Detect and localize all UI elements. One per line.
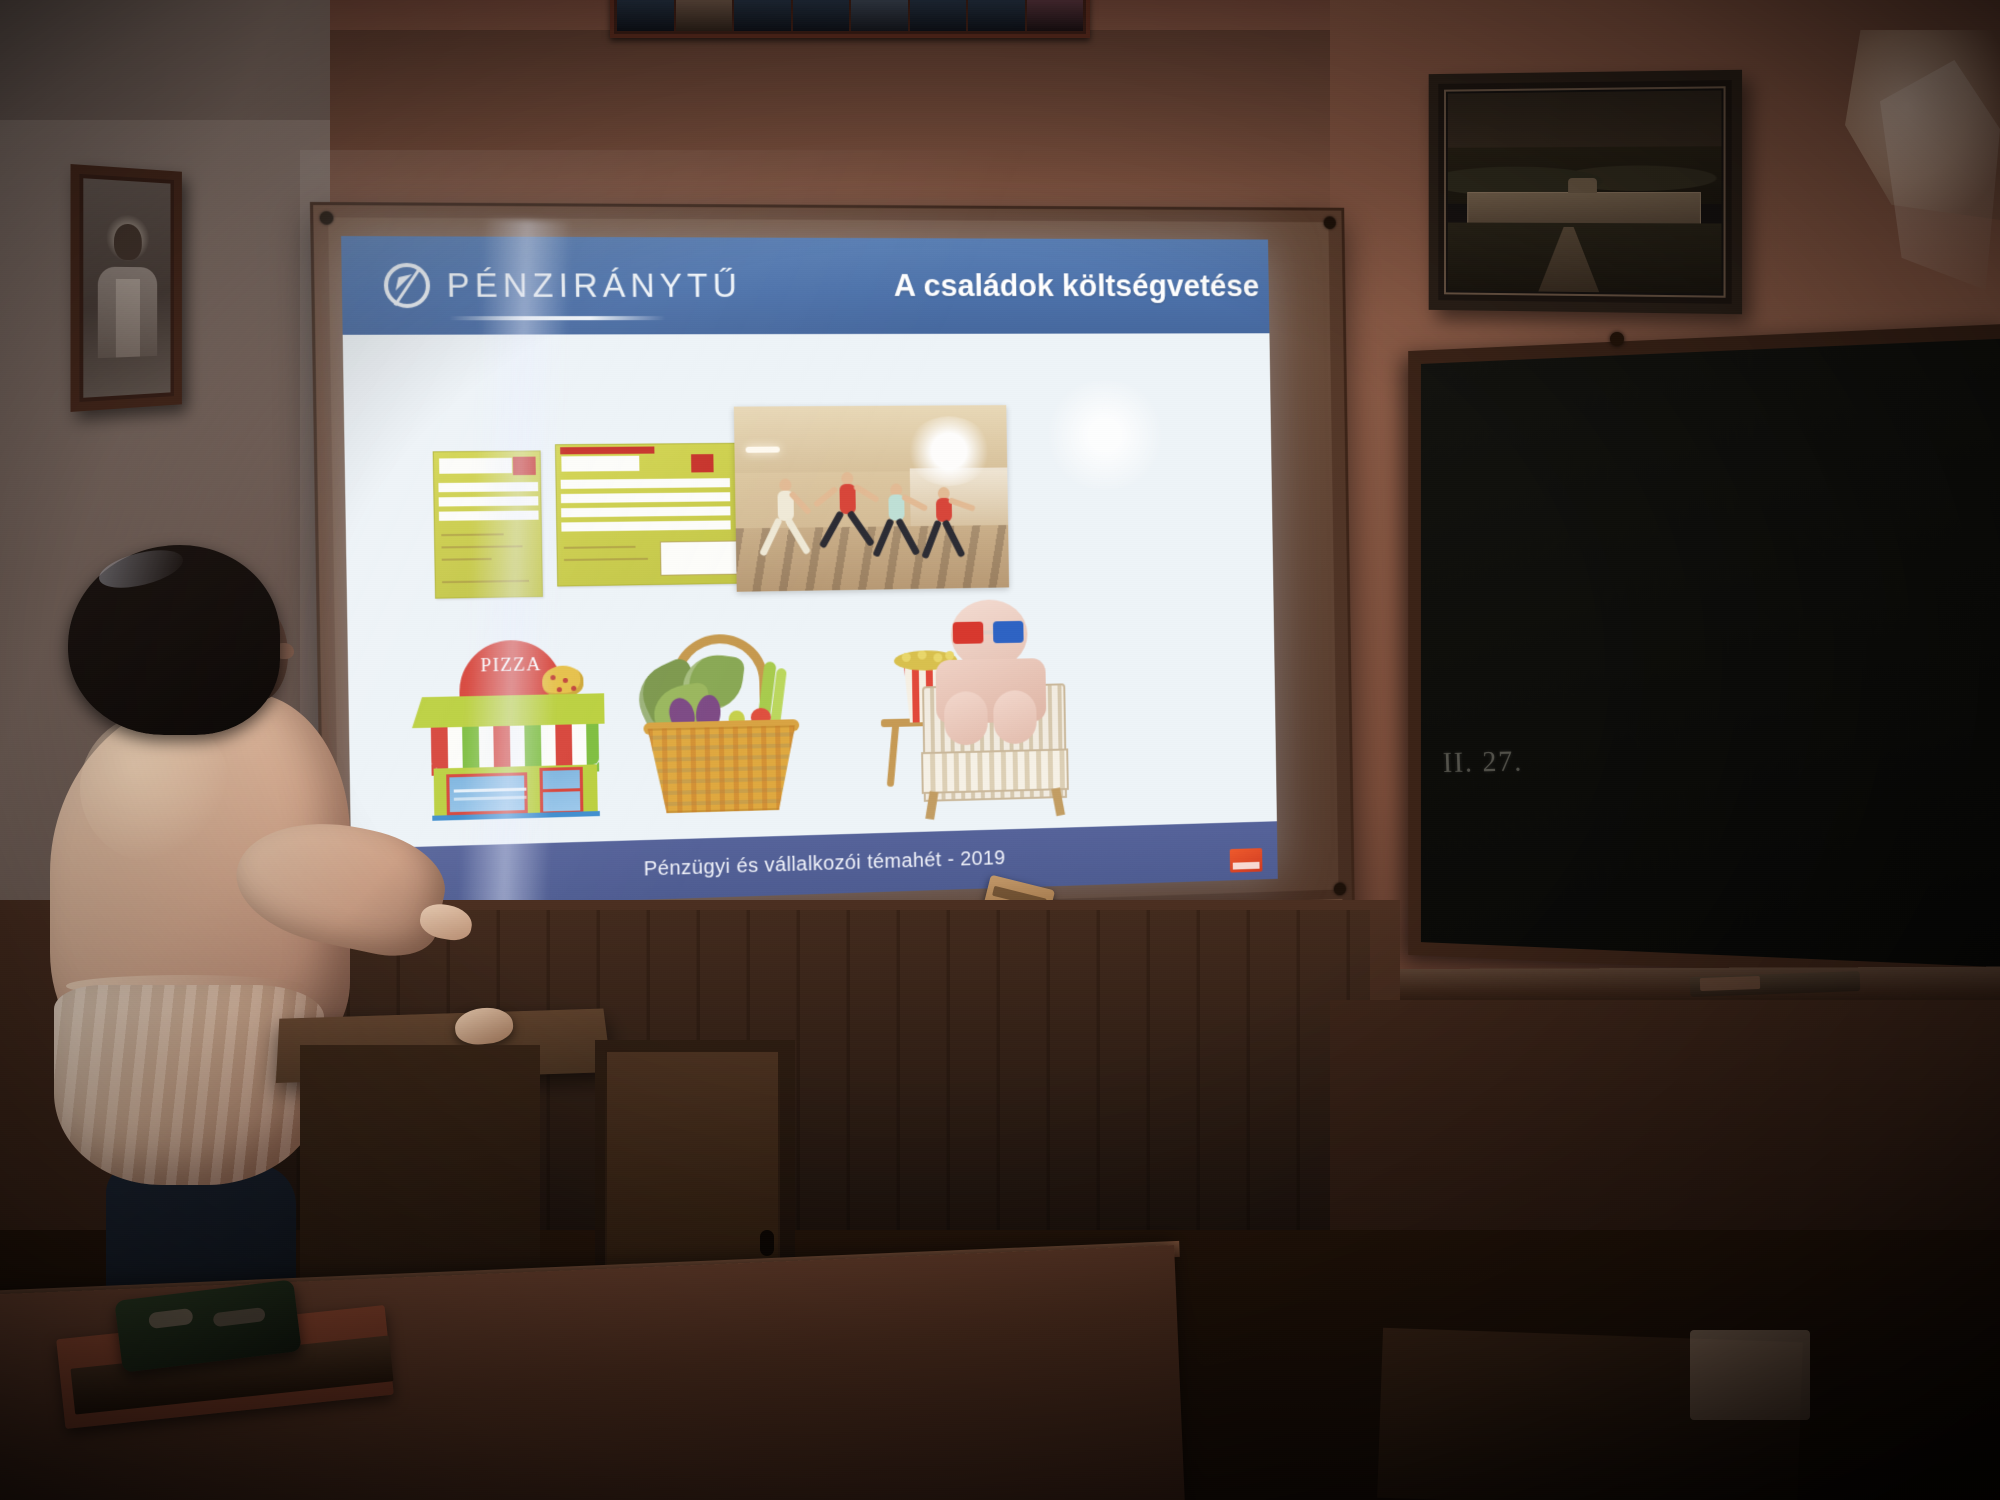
pencil-case-detail <box>148 1308 194 1329</box>
slide-header: PÉNZIRÁNYTŰ A családok költségvetése <box>341 236 1269 335</box>
pencil-case-detail <box>212 1307 265 1327</box>
photo-strip-frame <box>610 0 1090 38</box>
religious-icon-image <box>83 178 170 398</box>
pizza-shop-illustration: PIZZA <box>421 639 606 822</box>
slide-body: PIZZA <box>343 333 1277 849</box>
mnb-logo-icon <box>1230 848 1263 872</box>
3d-glasses-icon <box>953 621 1024 644</box>
compass-logo-icon <box>384 263 431 308</box>
icon-head-shape <box>114 223 142 260</box>
projector-glare-on-photo <box>906 416 992 486</box>
vegetable-basket-illustration <box>630 629 811 816</box>
footer-text: Pénzügyi és vállalkozói témahét - 2019 <box>643 847 1005 881</box>
pizza-slice-icon <box>542 665 584 696</box>
whiteboard-corner-sensor <box>1334 882 1346 895</box>
side-table-leg <box>887 725 899 787</box>
chalkboard-knob <box>1610 332 1624 346</box>
brand-name: PÉNZIRÁNYTŰ <box>446 266 742 305</box>
photo-mat <box>1444 86 1726 297</box>
projected-slide[interactable]: PÉNZIRÁNYTŰ A családok költségvetése <box>341 236 1278 909</box>
person-knee-left <box>944 691 988 746</box>
shop-door <box>539 767 583 815</box>
cinema-3d-glasses-illustration <box>879 598 1079 813</box>
presenter-blouse-highlight <box>80 713 230 863</box>
gym-lamp <box>746 447 780 453</box>
shop-window <box>446 772 528 815</box>
classroom-scene: II. 27. PÉNZIRÁNYTŰ A családok költségve… <box>0 0 2000 1500</box>
chalkboard: II. 27. <box>1408 324 2000 982</box>
photo-building <box>1468 192 1701 225</box>
whiteboard-corner-sensor <box>320 211 334 224</box>
shop-facade-band <box>422 693 605 728</box>
wall-fixture <box>1690 1330 1810 1420</box>
framed-landscape-photo <box>1429 70 1742 314</box>
slide-title: A családok költségvetése <box>894 268 1260 304</box>
basket-weave-body <box>648 725 797 813</box>
ledge-object-secondary <box>1700 976 1760 991</box>
bill-form-left <box>433 450 543 598</box>
armchair-seat <box>921 748 1069 794</box>
brand-underline <box>449 316 665 320</box>
gym-class-photo <box>734 405 1009 592</box>
utility-bill-forms-image <box>433 443 743 604</box>
brand-lockup: PÉNZIRÁNYTŰ <box>384 263 743 308</box>
bill-form-right <box>555 443 743 587</box>
striped-awning <box>431 724 599 769</box>
person-knee-right <box>993 690 1037 744</box>
icon-robe-shape <box>116 279 140 358</box>
interactive-whiteboard[interactable]: PÉNZIRÁNYTŰ A családok költségvetése <box>310 202 1355 985</box>
presenter-peplum <box>54 985 324 1185</box>
gym-floor <box>736 525 1009 591</box>
lectern-handle[interactable] <box>760 1230 774 1256</box>
chalkboard-text: II. 27. <box>1442 745 1523 780</box>
religious-icon-frame <box>71 164 182 412</box>
whiteboard-corner-sensor <box>1324 216 1336 229</box>
